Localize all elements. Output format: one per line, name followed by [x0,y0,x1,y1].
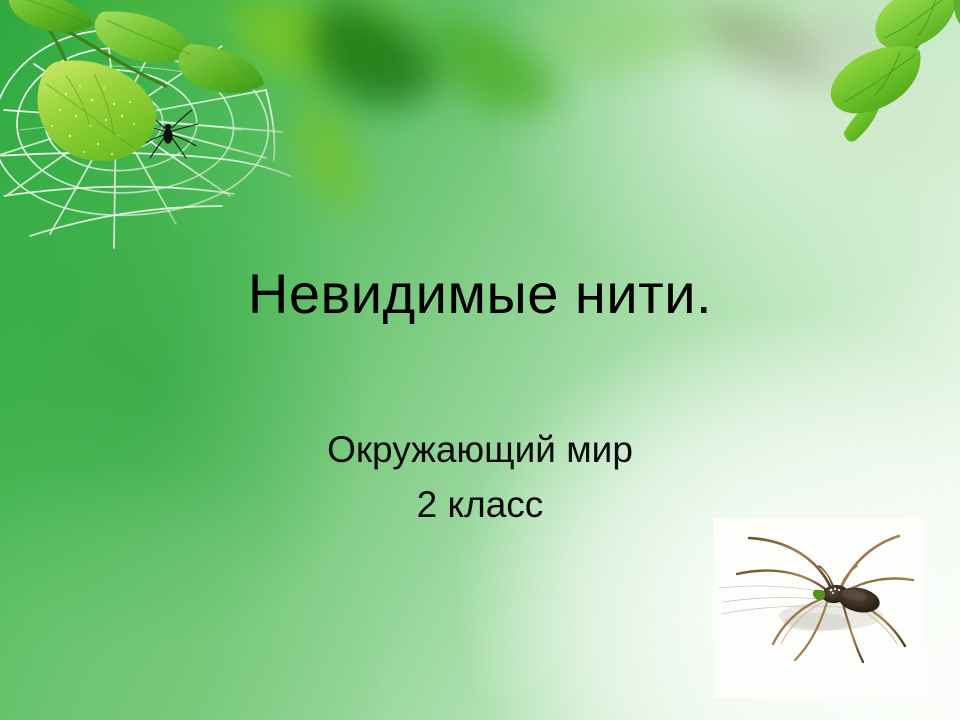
subtitle-block: Окружающий мир 2 класс [0,422,960,533]
presentation-slide: Невидимые нити. Окружающий мир 2 класс [0,0,960,720]
page-title: Невидимые нити. [0,262,960,326]
slide-text-block: Невидимые нити. Окружающий мир 2 класс [0,262,960,533]
subtitle-line-subject: Окружающий мир [0,422,960,478]
leaves-top-right-icon [760,0,960,174]
spider-photo [713,518,925,698]
leaves-top-left-icon [0,0,274,180]
